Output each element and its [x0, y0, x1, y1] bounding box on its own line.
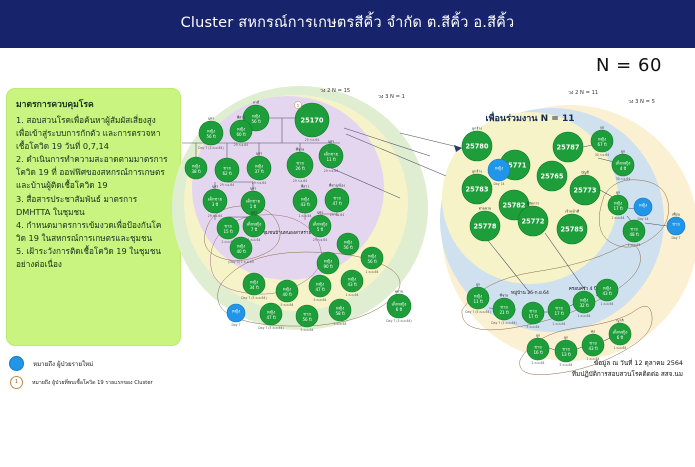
case-sex-label: หญิง	[580, 297, 588, 302]
legend-item: หมายถึง ผู้ป่วยรายใหม่	[9, 356, 249, 371]
case-age-label: 21 ปี	[499, 310, 509, 315]
ring-size-label: วง 3 N = 1	[378, 94, 405, 100]
case-date-label: 25 ก.ย.64	[305, 138, 320, 142]
case-id-label: 25785	[561, 225, 584, 233]
case-relation-label: ลูก	[564, 336, 568, 340]
case-relation-label: ลูก	[616, 191, 620, 195]
case-sex-label: ชาย	[223, 165, 231, 170]
case-sex-label: หญิง	[598, 136, 606, 141]
case-age-label: 16 ปี	[533, 350, 543, 355]
case-date-label: 29 ก.ย.64	[324, 169, 339, 173]
case-date-label: 5 ต.ค.64	[527, 325, 540, 329]
case-date-label: 29 ก.ย.64	[313, 238, 328, 242]
case-id-label: 25780	[466, 142, 489, 150]
case-relation-label: ลูก	[621, 150, 625, 154]
case-age-label: 47 ปี	[315, 287, 325, 292]
ring-size-label: วง 2 N = 15	[320, 88, 350, 94]
case-sex-label: ชาย	[562, 346, 570, 351]
case-relation-label: แม่	[600, 126, 605, 130]
case-node-group[interactable]: หญิง56 ปี	[337, 233, 359, 255]
case-date-label: Day 7 (5 ต.ค.64)	[491, 321, 516, 325]
case-relation-label: พี่สาว	[301, 184, 309, 189]
case-age-label: 56 ปี	[302, 317, 312, 322]
case-node-group[interactable]: หญิง47 ปีDay 7 (5 ต.ค.64)	[258, 303, 283, 330]
case-age-label: 38 ปี	[191, 169, 201, 174]
case-sex-label: หญิง	[324, 258, 332, 263]
case-age-label: 56 ปี	[251, 119, 261, 124]
case-sex-label: หญิง	[495, 165, 503, 170]
case-sex-label: ชาย	[589, 340, 597, 345]
case-relation-label: สามี	[253, 100, 259, 105]
case-relation-label: บัญชี	[581, 170, 589, 175]
case-date-label: 1 ต.ค.64	[612, 216, 625, 220]
case-age-label: 11 ปี	[473, 299, 483, 304]
case-sex-label: ชาย	[333, 195, 341, 200]
case-sex-label: ชาย	[672, 221, 680, 226]
case-node-group[interactable]: หญิง34 ปีDay 7 (5 ต.ค.64)	[241, 273, 266, 300]
case-node-group[interactable]: หญิง38 ปี	[185, 157, 207, 179]
data-date: ข้อมูล ณ วันที่ 12 ตุลาคม 2564	[572, 358, 683, 369]
case-relation-label: ผู้จัดการ	[527, 202, 539, 206]
case-sex-label: เด็กชาย	[208, 195, 223, 201]
case-sex-label: หญิง	[603, 285, 611, 290]
case-relation-label: พี่สาว	[237, 115, 245, 120]
case-age-label: 32 ปี	[579, 303, 589, 308]
case-sex-label: หญิง	[207, 128, 215, 133]
case-date-label: Day 14	[637, 217, 648, 221]
case-id-label: 25773	[574, 186, 597, 194]
case-sex-label: หญิง	[267, 309, 275, 314]
case-age-label: 47 ปี	[332, 201, 342, 206]
case-age-label: 48 ปี	[629, 232, 639, 237]
case-sex-label: ชาย	[500, 304, 508, 309]
cluster-transmission-diagram: วง 2 N = 15วง 3 N = 1วง 2 N = 11วง 3 N =…	[0, 48, 695, 378]
case-node-group[interactable]: หญิง90 ปี	[317, 252, 339, 274]
case-sex-label: ชาย	[534, 344, 542, 349]
case-sex-label: หญิง	[336, 305, 344, 310]
case-age-label: 43 ปี	[588, 346, 598, 351]
case-age-label: 6 ปี	[617, 335, 624, 340]
case-age-label: 6 ปี	[396, 307, 403, 312]
cluster-group-label: หมู่บ้าน 26-ก.ย.64	[511, 290, 549, 296]
case-id-label: 25765	[541, 172, 564, 180]
case-age-label: 37 ปี	[254, 169, 264, 174]
case-age-label: 7 ปี	[251, 227, 258, 232]
cluster-group-label: ชุมชนบ้านหนองสาหร่าย	[263, 230, 312, 236]
case-age-label: 43 ปี	[602, 291, 612, 296]
case-age-label: 43 ปี	[347, 282, 357, 287]
case-sex-label: ชาย	[303, 311, 311, 316]
case-date-label: 30 ก.ย.64	[595, 153, 610, 157]
case-sex-label: เด็กหญิง	[613, 328, 628, 334]
case-date-label: Day 7 (3 ต.ค.64)	[198, 146, 223, 150]
case-sex-label: หญิง	[614, 200, 622, 205]
case-sex-label: หญิง	[474, 293, 482, 298]
ring-size-label: วง 3 N = 5	[628, 99, 655, 105]
case-date-label: 1 ต.ค.64	[601, 302, 614, 306]
case-sex-label: ชาย	[630, 226, 638, 231]
case-id-label: 25782	[503, 201, 526, 209]
case-age-label: 90 ปี	[323, 264, 333, 269]
case-date-label: 5 ต.ค.64	[314, 298, 327, 302]
case-age-label: 40 ปี	[282, 292, 292, 297]
case-age-label: 17 ปี	[528, 314, 538, 319]
case-sex-label: หญิง	[237, 126, 245, 131]
new-case-dot-icon	[9, 356, 24, 371]
case-age-label: 3 ปี	[212, 202, 219, 207]
case-age-label: 17 ปี	[554, 311, 564, 316]
legend-label: หมายถึง ผู้ป่วยที่พบเชื้อโควิด 19 รายแรก…	[32, 379, 153, 387]
case-date-label: 2 ต.ค.64	[553, 322, 566, 326]
case-age-label: 56 ปี	[343, 245, 353, 250]
case-date-label: 29 ก.ย.64	[234, 143, 249, 147]
case-node-group[interactable]: 25765	[537, 161, 567, 191]
case-relation-label: ฝ่ายขาย	[479, 207, 491, 211]
case-date-label: 29 ก.ย.64	[293, 179, 308, 183]
case-sex-label: หญิง	[639, 202, 647, 207]
case-sex-label: เด็กชาย	[246, 197, 261, 203]
legend-item: 1 หมายถึง ผู้ป่วยที่พบเชื้อโควิด 19 รายแ…	[9, 376, 249, 389]
legend-label: หมายถึง ผู้ป่วยรายใหม่	[33, 359, 93, 369]
index-case-number: 1	[297, 103, 299, 107]
case-relation-label: ลูกจ้าง	[472, 170, 482, 174]
case-id-label: 25772	[522, 217, 545, 225]
case-sex-label: เด็กหญิง	[313, 220, 328, 226]
case-age-label: 26 ปี	[295, 166, 305, 171]
case-relation-label: ลูก	[476, 283, 480, 287]
case-age-label: 34 ปี	[249, 285, 259, 290]
case-sex-label: หญิง	[237, 243, 245, 248]
case-sex-label: ชาย	[529, 308, 537, 313]
slide-canvas: Cluster สหกรณ์การเกษตรสีคิ้ว จำกัด ต.สีค…	[0, 0, 695, 467]
case-sex-label: หญิง	[301, 196, 309, 201]
case-age-label: 4 ปี	[620, 166, 627, 171]
case-age-label: 13 ปี	[561, 352, 571, 357]
case-id-label: 25778	[474, 222, 497, 230]
case-node-group[interactable]: หญิงDay 7	[227, 304, 245, 327]
case-sex-label: เด็กชาย	[324, 150, 339, 156]
case-sex-label: เด็กหญิง	[247, 220, 262, 226]
case-age-label: 56 ปี	[367, 259, 377, 264]
case-sex-label: หญิง	[283, 286, 291, 291]
case-date-label: 29 ก.ย.64	[330, 213, 345, 217]
case-age-label: 67 ปี	[597, 142, 607, 147]
case-relation-label: ลูกจ้าง	[472, 127, 482, 131]
data-team: ทีมปฏิบัติการสอบสวนโรคติดต่อ สสจ.นม	[572, 369, 683, 380]
case-relation-label: ลูก	[536, 334, 540, 338]
case-id-label: 25787	[557, 143, 580, 151]
case-sex-label: ชาย	[555, 305, 563, 310]
case-date-label: Day 7	[671, 236, 680, 240]
case-date-label: 30 ก.ย.64	[616, 177, 631, 181]
case-date-label: 1 ต.ค.64	[628, 243, 641, 247]
case-date-label: 1 ต.ค.64	[614, 346, 627, 350]
case-age-label: 43 ปี	[300, 202, 310, 207]
page-title: Cluster สหกรณ์การเกษตรสีคิ้ว จำกัด ต.สีค…	[0, 11, 695, 34]
case-date-label: 1 ต.ค.64	[366, 270, 379, 274]
case-date-label: 1 ต.ค.64	[346, 293, 359, 297]
legend: หมายถึง ผู้ป่วยรายใหม่ 1 หมายถึง ผู้ป่วย…	[9, 356, 249, 394]
case-sex-label: หญิง	[348, 276, 356, 281]
case-date-label: 5 ต.ค.64	[560, 363, 573, 367]
case-age-label: 5 ปี	[317, 227, 324, 232]
case-date-label: 1 ต.ค.64	[299, 214, 312, 218]
case-relation-label: พี่ชาย	[500, 293, 509, 298]
case-sex-label: หญิง	[344, 239, 352, 244]
case-sex-label: หญิง	[252, 113, 260, 118]
case-sex-label: เด็กหญิง	[616, 159, 631, 165]
case-relation-label: เพื่อน	[672, 212, 681, 217]
data-source-note: ข้อมูล ณ วันที่ 12 ตุลาคม 2564 ทีมปฏิบัต…	[572, 358, 683, 380]
case-date-label: 29 ก.ย.64	[252, 181, 267, 185]
case-sex-label: ชาย	[296, 160, 304, 165]
case-date-label: Day 7 (3 ต.ค.64)	[386, 319, 411, 323]
title-bar: Cluster สหกรณ์การเกษตรสีคิ้ว จำกัด ต.สีค…	[0, 0, 695, 48]
ring-size-label: วง 2 N = 11	[568, 90, 598, 96]
index-case-ring-icon: 1	[10, 376, 23, 389]
case-sex-label: หญิง	[192, 163, 200, 168]
case-relation-label: ญาติ	[616, 319, 624, 323]
case-relation-label: พี่ชาย	[296, 147, 305, 152]
case-relation-label: พี่ชาย/น้อง	[329, 183, 345, 188]
case-date-label: 1 ต.ค.64	[578, 314, 591, 318]
case-age-label: 40 ปี	[236, 249, 246, 254]
case-age-label: 11 ปี	[326, 157, 336, 162]
case-sex-label: หญิง	[368, 253, 376, 258]
case-sex-label: ชาย	[224, 223, 232, 228]
case-age-label: 60 ปี	[236, 132, 246, 137]
case-sex-label: เด็กหญิง	[392, 300, 407, 306]
case-sex-label: หญิง	[255, 163, 263, 168]
case-date-label: Day 7 (5 ต.ค.64)	[465, 310, 490, 314]
case-age-label: 47 ปี	[266, 315, 276, 320]
case-age-label: 56 ปี	[206, 134, 216, 139]
case-sex-label: หญิง	[250, 279, 258, 284]
case-date-label: 29 ก.ย.64	[220, 183, 235, 187]
case-date-label: 2 ต.ค.64	[532, 361, 545, 365]
case-age-label: 17 ปี	[613, 206, 623, 211]
case-relation-label: หลาน	[395, 290, 404, 294]
case-node-group[interactable]: 25787	[553, 132, 583, 162]
case-date-label: Day 7	[231, 323, 240, 327]
case-date-label: Day 7 (5 ต.ค.64)	[258, 326, 283, 330]
case-date-label: Day 14	[493, 182, 504, 186]
case-id-label: 25783	[466, 185, 489, 193]
case-date-label: 5 ต.ค.64	[281, 303, 294, 307]
case-date-label: 5 ต.ค.64	[334, 322, 347, 326]
case-id-label: 25170	[301, 116, 324, 124]
case-sex-label: หญิง	[232, 308, 240, 313]
case-date-label: 29 ก.ย.64	[208, 214, 223, 218]
case-age-label: 1 ปี	[250, 204, 257, 209]
case-relation-label: พ่อ	[591, 330, 595, 334]
case-age-label: 62 ปี	[222, 171, 232, 176]
case-date-label: Day 7 (5 ต.ค.64)	[241, 296, 266, 300]
case-sex-label: หญิง	[316, 281, 324, 286]
case-node-group[interactable]: หญิง40 ปี(Day 0) 1 ต.ค.64	[228, 237, 253, 264]
case-relation-label: เจ้าหน้าที่	[565, 209, 580, 214]
case-date-label: 5 ต.ค.64	[301, 328, 314, 332]
case-age-label: 15 ปี	[223, 229, 233, 234]
case-date-label: (Day 0) 1 ต.ค.64	[228, 260, 253, 264]
case-age-label: 58 ปี	[335, 311, 345, 316]
ring-size-labels: วง 2 N = 15วง 3 N = 1วง 2 N = 11วง 3 N =…	[320, 88, 655, 105]
